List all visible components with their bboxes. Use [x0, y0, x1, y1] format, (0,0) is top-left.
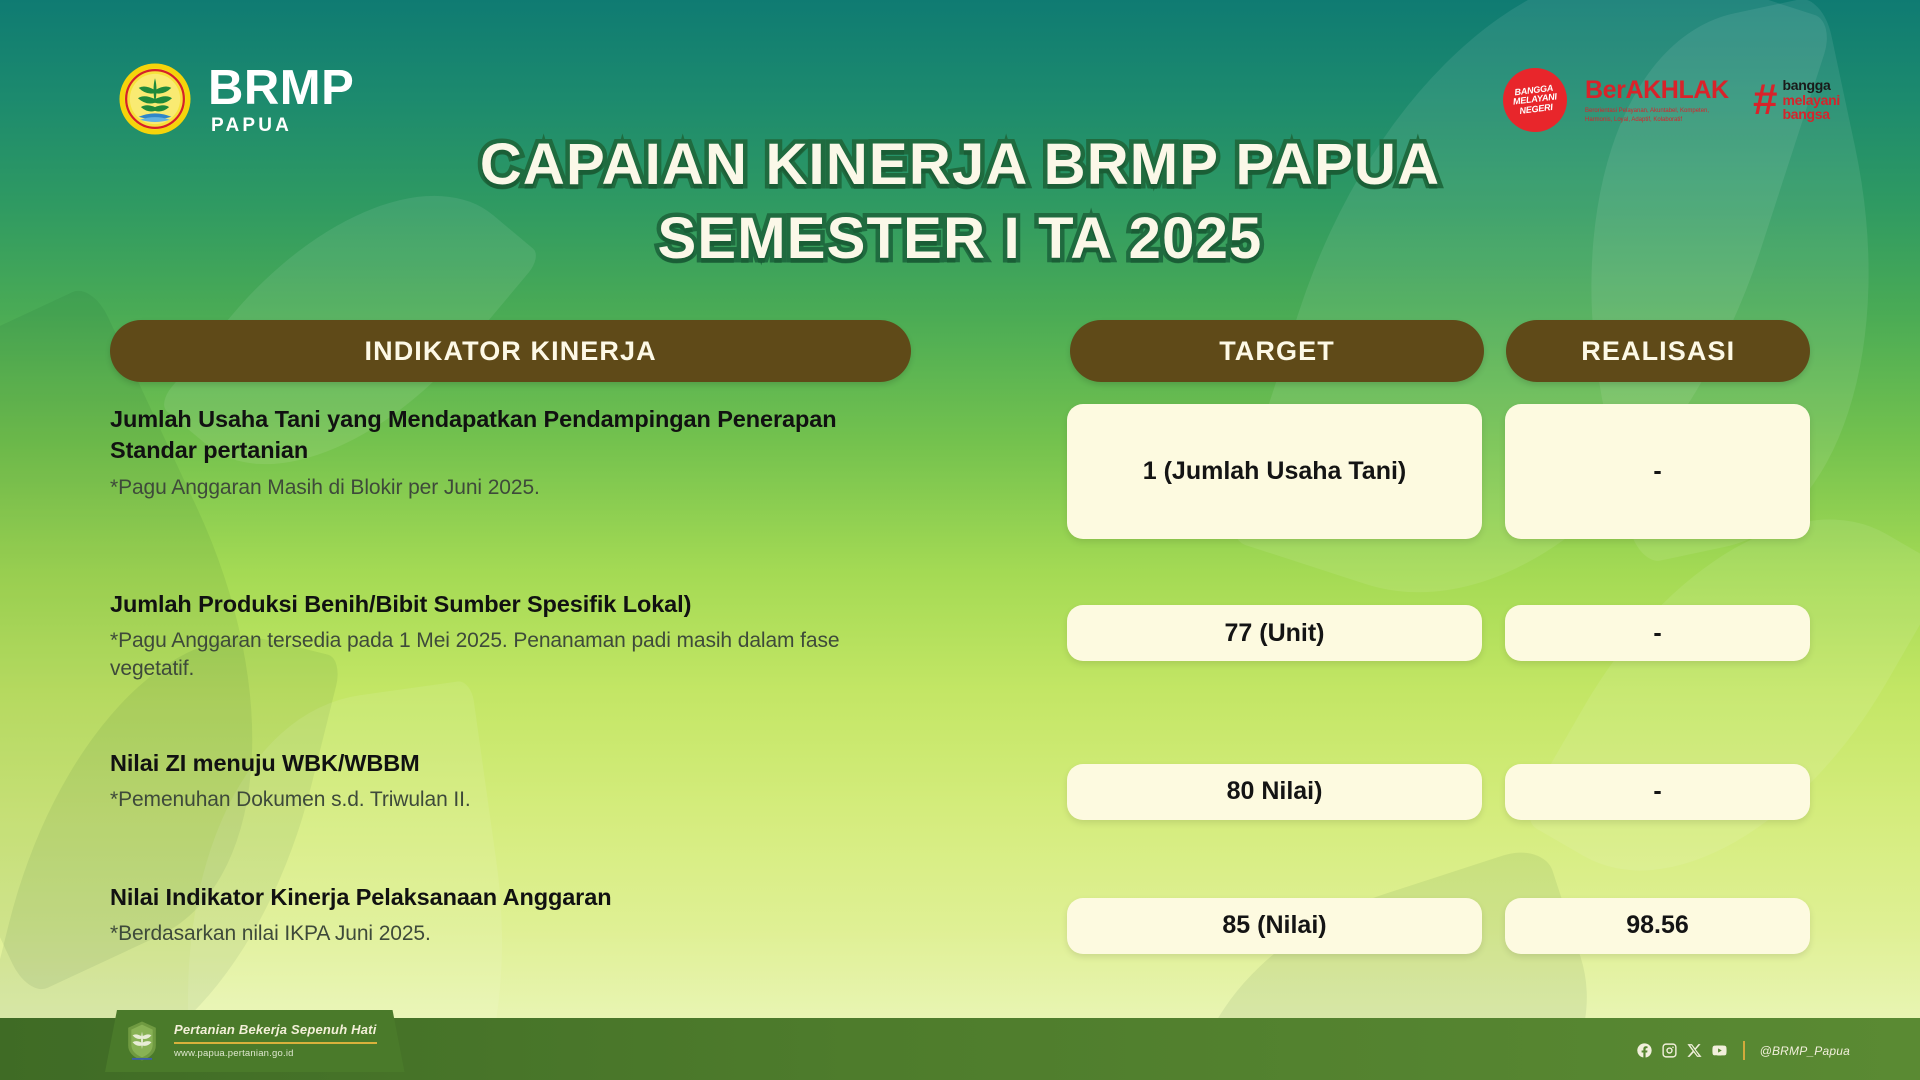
berakhlak-tagline: Berorientasi Pelayanan, Akuntabel, Kompe…: [1585, 107, 1735, 123]
table-row: Nilai Indikator Kinerja Pelaksanaan Angg…: [0, 882, 1920, 954]
indicator-title: Nilai Indikator Kinerja Pelaksanaan Angg…: [110, 882, 868, 913]
realisasi-value: 98.56: [1505, 898, 1810, 954]
bangga-line2: melayani: [1782, 93, 1840, 108]
footer-website[interactable]: www.papua.pertanian.go.id: [174, 1048, 377, 1060]
realisasi-value: -: [1505, 605, 1810, 661]
bangga-line3: bangsa: [1782, 107, 1840, 122]
indicator-note: *Pemenuhan Dokumen s.d. Triwulan II.: [110, 786, 868, 814]
indicator-note: *Berdasarkan nilai IKPA Juni 2025.: [110, 920, 868, 948]
ministry-of-agriculture-seal-icon: [118, 62, 192, 136]
column-header-realisasi: REALISASI: [1506, 320, 1810, 382]
footer-tagline-block: Pertanian Bekerja Sepenuh Hati www.papua…: [105, 1010, 405, 1072]
ministry-of-agriculture-seal-icon: [123, 1019, 161, 1063]
social-handle[interactable]: @BRMP_Papua: [1760, 1044, 1850, 1058]
column-header-target: TARGET: [1070, 320, 1483, 382]
target-value: 77 (Unit): [1067, 605, 1482, 661]
instagram-icon[interactable]: [1661, 1042, 1678, 1059]
table-row: Jumlah Produksi Benih/Bibit Sumber Spesi…: [0, 589, 1920, 683]
bangga-melayani-bangsa-logo: # bangga melayani bangsa: [1753, 78, 1840, 122]
indicator-note: *Pagu Anggaran tersedia pada 1 Mei 2025.…: [110, 627, 868, 682]
table-row: Nilai ZI menuju WBK/WBBM *Pemenuhan Doku…: [0, 748, 1920, 820]
page-title: CAPAIAN KINERJA BRMP PAPUA SEMESTER I TA…: [0, 128, 1920, 276]
youtube-icon[interactable]: [1711, 1042, 1728, 1059]
brand-logo: BRMP PAPUA: [118, 62, 354, 136]
realisasi-value: -: [1505, 404, 1810, 539]
target-value: 80 Nilai): [1067, 764, 1482, 820]
facebook-icon[interactable]: [1636, 1042, 1653, 1059]
indicator-title: Jumlah Produksi Benih/Bibit Sumber Spesi…: [110, 589, 868, 620]
footer-social-links: @BRMP_Papua: [1636, 1041, 1850, 1060]
target-value: 1 (Jumlah Usaha Tani): [1067, 404, 1482, 539]
berakhlak-main: AKHLAK: [1625, 76, 1728, 104]
bangga-line1: bangga: [1782, 78, 1840, 93]
table-row: Jumlah Usaha Tani yang Mendapatkan Penda…: [0, 404, 1920, 539]
bangga-melayani-negeri-badge-icon: BANGGA MELAYANI NEGERI: [1503, 68, 1567, 132]
indicator-title: Nilai ZI menuju WBK/WBBM: [110, 748, 868, 779]
berakhlak-logo: BerAKHLAK Berorientasi Pelayanan, Akunta…: [1585, 76, 1735, 123]
table-header-row: INDIKATOR KINERJA TARGET REALISASI: [0, 320, 1920, 382]
footer-divider: [1743, 1041, 1745, 1060]
berakhlak-prefix: Ber: [1585, 76, 1626, 104]
page-title-line-1: CAPAIAN KINERJA BRMP PAPUA: [480, 132, 1440, 197]
indicator-title: Jumlah Usaha Tani yang Mendapatkan Penda…: [110, 404, 868, 467]
performance-table: INDIKATOR KINERJA TARGET REALISASI Jumla…: [0, 320, 1920, 954]
partner-logos: BANGGA MELAYANI NEGERI BerAKHLAK Berorie…: [1503, 68, 1840, 132]
indicator-note: *Pagu Anggaran Masih di Blokir per Juni …: [110, 474, 868, 502]
realisasi-value: -: [1505, 764, 1810, 820]
hashtag-icon: #: [1753, 82, 1777, 117]
brand-name: BRMP: [208, 64, 354, 113]
target-value: 85 (Nilai): [1067, 898, 1482, 954]
footer-divider: [174, 1042, 377, 1044]
column-header-indikator: INDIKATOR KINERJA: [110, 320, 911, 382]
badge-text: BANGGA MELAYANI NEGERI: [1501, 82, 1568, 118]
footer-tagline: Pertanian Bekerja Sepenuh Hati: [174, 1022, 377, 1038]
page-title-line-2: SEMESTER I TA 2025: [0, 202, 1920, 276]
x-twitter-icon[interactable]: [1686, 1042, 1703, 1059]
